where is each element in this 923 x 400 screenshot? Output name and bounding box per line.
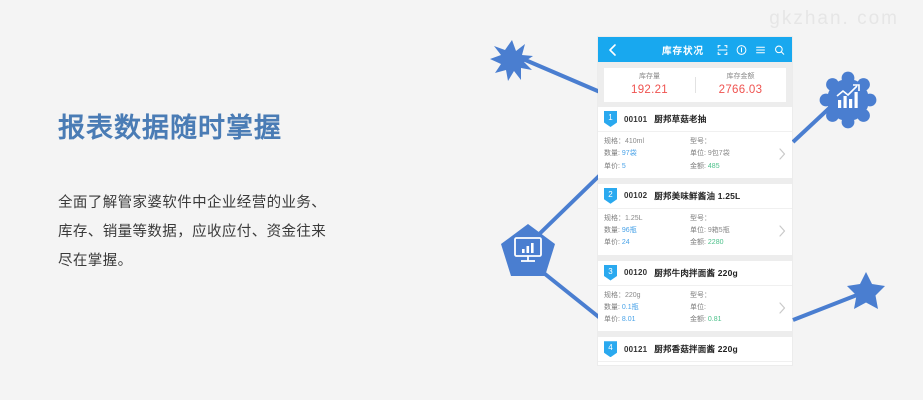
item-right-column: 型号： 单位: 9包7袋 金额: 485	[690, 136, 776, 173]
item-amount-row: 金额: 0.81	[690, 314, 776, 326]
label-model: 型号：	[690, 138, 711, 145]
item-right-column: 型号： 单位: 金额: 0.81	[690, 290, 776, 327]
chevron-right-icon[interactable]	[776, 148, 788, 160]
label-qty: 数量:	[604, 150, 620, 157]
label-model: 型号：	[690, 292, 711, 299]
item-code: 00102	[624, 191, 647, 200]
value-amount: 2280	[708, 239, 724, 246]
item-model-row: 型号：	[690, 213, 776, 225]
promo-body-line: 尽在掌握。	[58, 247, 418, 276]
item-qty-row: 数量: 0.1瓶	[604, 302, 690, 314]
connector-line-monitor-up	[530, 175, 600, 243]
value-qty: 97袋	[622, 150, 637, 157]
connector-line-star-bottom	[793, 295, 857, 320]
connector-line-top-left	[516, 56, 600, 92]
site-watermark: gkzhan. com	[769, 8, 899, 30]
item-model-row: 型号：	[690, 136, 776, 148]
chevron-right-icon[interactable]	[776, 225, 788, 237]
item-left-column: 规格：410ml 数量: 97袋 单价: 5	[604, 136, 690, 173]
list-item-body: 规格：220g 数量: 0.11瓶 单价: 1.98 型号： 单位: 金额: 0…	[598, 362, 792, 365]
list-item-header: 3 00120 厨邦牛肉拌面酱 220g	[598, 261, 792, 286]
item-right-column: 型号： 单位: 9箱5瓶 金额: 2280	[690, 213, 776, 250]
item-unit-row: 单位: 9箱5瓶	[690, 225, 776, 237]
list-item[interactable]: 1 00101 厨邦草菇老抽 规格：410ml 数量: 97袋 单价: 5 型号…	[598, 107, 792, 184]
bar-chart-trend-icon	[837, 85, 859, 108]
promo-body-line: 库存、销量等数据，应收应付、资金往来	[58, 218, 418, 247]
app-header: 库存状况	[598, 37, 792, 62]
list-item[interactable]: 3 00120 厨邦牛肉拌面酱 220g 规格：220g 数量: 0.1瓶 单价…	[598, 261, 792, 338]
value-amount: 485	[708, 163, 720, 170]
list-item-body: 规格：220g 数量: 0.1瓶 单价: 8.01 型号： 单位: 金额: 0.…	[598, 286, 792, 332]
item-name: 厨邦牛肉拌面酱 220g	[654, 267, 738, 279]
label-unit: 单位:	[690, 227, 706, 234]
chevron-right-icon[interactable]	[776, 302, 788, 314]
summary-value: 192.21	[631, 82, 668, 99]
list-item[interactable]: 4 00121 厨邦香菇拌面酱 220g 规格：220g 数量: 0.11瓶 单…	[598, 337, 792, 365]
summary-label: 库存量	[639, 72, 660, 82]
item-amount-row: 金额: 485	[690, 161, 776, 173]
label-spec: 规格：	[604, 215, 625, 222]
value-amount: 0.81	[708, 316, 722, 323]
label-model: 型号：	[690, 215, 711, 222]
value-unit: 9包7袋	[708, 150, 730, 157]
item-name: 厨邦草菇老抽	[654, 113, 706, 125]
item-qty-row: 数量: 96瓶	[604, 225, 690, 237]
value-qty: 96瓶	[622, 227, 637, 234]
label-amount: 金额:	[690, 163, 706, 170]
item-name: 厨邦香菇拌面酱 220g	[654, 343, 738, 355]
info-circle-icon[interactable]	[736, 44, 747, 55]
label-amount: 金额:	[690, 239, 706, 246]
label-amount: 金额:	[690, 316, 706, 323]
list-item-body: 规格：410ml 数量: 97袋 单价: 5 型号： 单位: 9包7袋 金额: …	[598, 132, 792, 178]
five-point-star-decoration	[847, 272, 885, 309]
summary-stat-quantity: 库存量 192.21	[604, 72, 695, 98]
inventory-list: 1 00101 厨邦草菇老抽 规格：410ml 数量: 97袋 单价: 5 型号…	[598, 107, 792, 365]
summary-value: 2766.03	[719, 82, 763, 99]
item-index-badge: 3	[604, 265, 617, 281]
item-code: 00120	[624, 268, 647, 277]
item-spec-row: 规格：220g	[604, 290, 690, 302]
app-header-title: 库存状况	[662, 43, 704, 57]
item-spec-row: 规格：1.25L	[604, 213, 690, 225]
burst-star-decoration	[490, 40, 533, 81]
value-price: 5	[622, 163, 626, 170]
item-left-column: 规格：1.25L 数量: 96瓶 单价: 24	[604, 213, 690, 250]
item-price-row: 单价: 24	[604, 237, 690, 249]
page-title: 报表数据随时掌握	[58, 112, 418, 144]
item-amount-row: 金额: 2280	[690, 237, 776, 249]
label-qty: 数量:	[604, 227, 620, 234]
item-unit-row: 单位:	[690, 302, 776, 314]
value-qty: 0.1瓶	[622, 304, 639, 311]
item-unit-row: 单位: 9包7袋	[690, 148, 776, 160]
label-spec: 规格：	[604, 292, 625, 299]
promo-body-line: 全面了解管家婆软件中企业经营的业务、	[58, 189, 418, 218]
item-name: 厨邦美味鲜酱油 1.25L	[654, 190, 740, 202]
item-code: 00121	[624, 345, 647, 354]
phone-mockup: 库存状况	[598, 37, 792, 365]
value-spec: 220g	[625, 292, 641, 299]
summary-label: 库存金额	[727, 72, 755, 82]
label-price: 单价:	[604, 316, 620, 323]
list-item-header: 4 00121 厨邦香菇拌面酱 220g	[598, 337, 792, 362]
label-price: 单价:	[604, 239, 620, 246]
value-spec: 1.25L	[625, 215, 643, 222]
item-index-badge: 1	[604, 111, 617, 127]
item-index-badge: 2	[604, 188, 617, 204]
item-code: 00101	[624, 115, 647, 124]
list-menu-icon[interactable]	[755, 44, 766, 55]
promo-copy: 报表数据随时掌握 全面了解管家婆软件中企业经营的业务、 库存、销量等数据，应收应…	[58, 112, 418, 276]
page-root: gkzhan. com 报表数据随时掌握 全面了解管家婆软件中企业经营的业务、 …	[0, 0, 923, 400]
item-model-row: 型号：	[690, 290, 776, 302]
value-price: 24	[622, 239, 630, 246]
search-icon[interactable]	[774, 44, 785, 55]
list-item-header: 1 00101 厨邦草菇老抽	[598, 107, 792, 132]
summary-stat-amount: 库存金额 2766.03	[695, 72, 786, 98]
chevron-left-icon[interactable]	[606, 43, 620, 57]
label-spec: 规格：	[604, 138, 625, 145]
value-price: 8.01	[622, 316, 636, 323]
value-unit: 9箱5瓶	[708, 227, 730, 234]
label-unit: 单位:	[690, 304, 706, 311]
item-qty-row: 数量: 97袋	[604, 148, 690, 160]
list-item-header: 2 00102 厨邦美味鲜酱油 1.25L	[598, 184, 792, 209]
value-spec: 410ml	[625, 138, 644, 145]
connector-line-badge-chart	[793, 100, 838, 142]
promo-body: 全面了解管家婆软件中企业经营的业务、 库存、销量等数据，应收应付、资金往来 尽在…	[58, 189, 418, 276]
app-header-actions	[717, 44, 785, 55]
item-index-badge: 4	[604, 341, 617, 357]
label-qty: 数量:	[604, 304, 620, 311]
list-item[interactable]: 2 00102 厨邦美味鲜酱油 1.25L 规格：1.25L 数量: 96瓶 单…	[598, 184, 792, 261]
list-item-body: 规格：1.25L 数量: 96瓶 单价: 24 型号： 单位: 9箱5瓶 金额:…	[598, 209, 792, 255]
label-price: 单价:	[604, 163, 620, 170]
scan-icon[interactable]	[717, 44, 728, 55]
monitor-badge-decoration	[501, 224, 555, 276]
item-left-column: 规格：220g 数量: 0.1瓶 单价: 8.01	[604, 290, 690, 327]
monitor-chart-icon	[515, 238, 541, 261]
connector-line-monitor-down	[530, 262, 600, 318]
inventory-summary-card: 库存量 192.21 库存金额 2766.03	[604, 68, 786, 102]
chart-badge-decoration	[820, 72, 877, 129]
item-price-row: 单价: 5	[604, 161, 690, 173]
item-price-row: 单价: 8.01	[604, 314, 690, 326]
item-spec-row: 规格：410ml	[604, 136, 690, 148]
label-unit: 单位:	[690, 150, 706, 157]
